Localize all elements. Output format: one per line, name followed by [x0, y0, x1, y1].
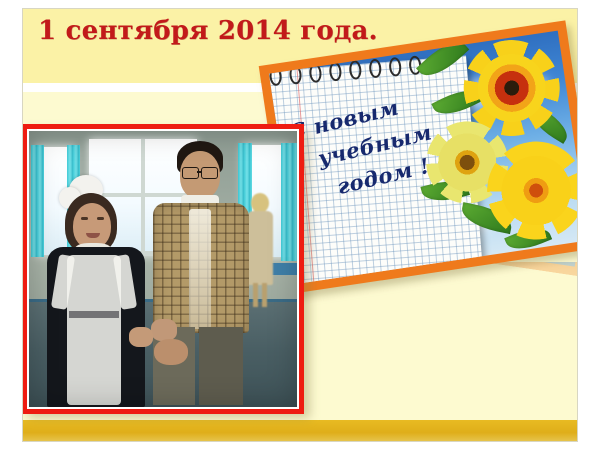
slide-canvas: 1 сентября 2014 года. С новым учебным го…: [0, 0, 600, 450]
photo-vignette: [29, 131, 297, 407]
page-title: 1 сентября 2014 года.: [38, 16, 378, 46]
footer-band: [23, 420, 577, 441]
photo-image: [29, 131, 297, 407]
greeting-card-image: С новым учебным годом !: [269, 31, 589, 284]
flower-icon: [480, 135, 589, 246]
photo-frame[interactable]: [22, 124, 304, 414]
